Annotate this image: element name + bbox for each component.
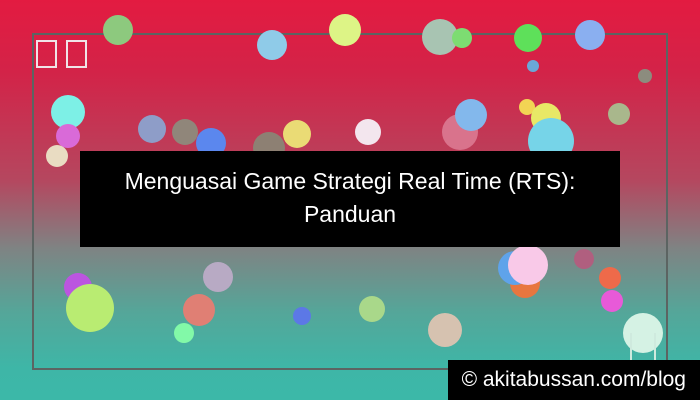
bubble-green-small-top — [452, 28, 472, 48]
watermark-label: © akitabussan.com/blog — [462, 367, 686, 392]
bubble-cornflower-top — [575, 20, 605, 50]
bubble-skyblue-top — [257, 30, 287, 60]
missing-glyph-box-2 — [66, 40, 87, 68]
missing-glyph-row — [36, 40, 87, 68]
bubble-brightgreen-top — [514, 24, 542, 52]
missing-glyph-box-1 — [36, 40, 57, 68]
thumbnail-canvas: Menguasai Game Strategi Real Time (RTS):… — [0, 0, 700, 400]
title-banner: Menguasai Game Strategi Real Time (RTS):… — [80, 151, 620, 247]
bubble-yellowgreen-top — [329, 14, 361, 46]
bubble-green-top-left — [103, 15, 133, 45]
page-title: Menguasai Game Strategi Real Time (RTS):… — [90, 165, 610, 231]
watermark-banner: © akitabussan.com/blog — [448, 360, 700, 400]
